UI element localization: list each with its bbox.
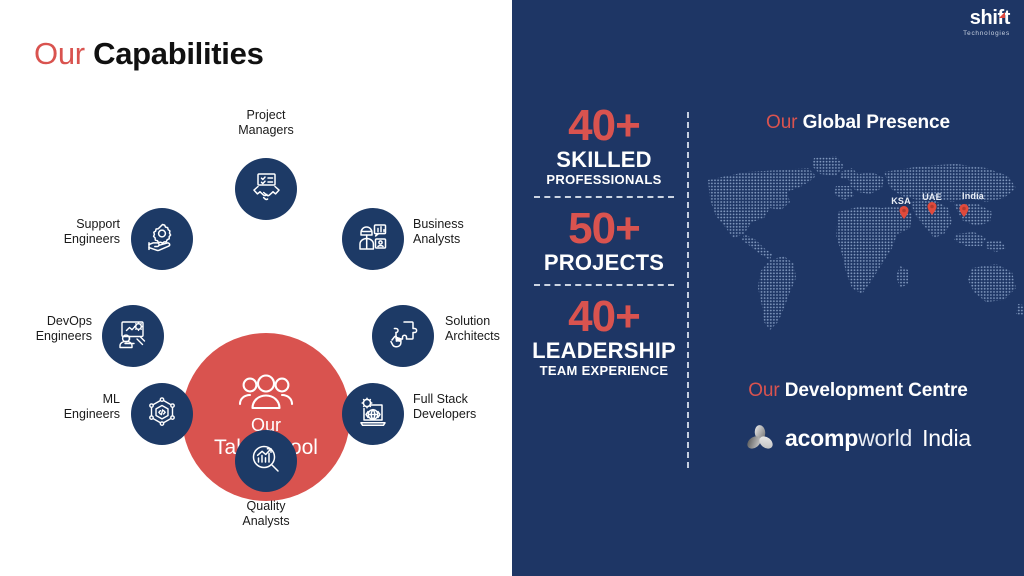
hub-node-label: DevOps Engineers <box>0 314 92 345</box>
hexagon-code-node-icon <box>145 395 179 434</box>
logo-name: shift <box>934 8 1010 28</box>
stat-block-leadership: 40+ LEADERSHIP TEAM EXPERIENCE <box>530 295 678 378</box>
talent-pool-hub-diagram: Our Talent Pool <box>0 90 512 576</box>
hub-node-label: ML Engineers <box>0 392 120 423</box>
global-presence-title-main: Global Presence <box>803 112 950 133</box>
map-pin-india[interactable] <box>960 204 969 217</box>
hub-node-label: Support Engineers <box>0 217 120 248</box>
stat-title: LEADERSHIP <box>530 339 678 363</box>
gear-hand-support-icon <box>145 220 179 259</box>
map-marker-label-india: India <box>962 191 984 201</box>
map-pin-uae[interactable] <box>928 202 937 215</box>
hub-node-label: Quality Analysts <box>186 499 346 530</box>
stat-title: PROJECTS <box>530 251 678 275</box>
hub-node-badge[interactable] <box>131 383 193 445</box>
acompworld-trefoil-icon <box>745 424 775 452</box>
partner-country: India <box>922 425 971 452</box>
shift-technologies-logo: shift Technologies <box>934 8 1010 48</box>
slide-root: Our Capabilities Our Talent Pool <box>0 0 1024 576</box>
stat-block-skilled-professionals: 40+ SKILLED PROFESSIONALS <box>530 104 678 187</box>
hub-node-label: Business Analysts <box>413 217 464 248</box>
puzzle-hand-icon <box>386 317 420 356</box>
hub-node-badge[interactable] <box>372 305 434 367</box>
global-presence-section: Our Global Presence <box>692 100 1024 400</box>
logo-subtitle: Technologies <box>934 30 1010 37</box>
stats-column: 40+ SKILLED PROFESSIONALS 50+ PROJECTS 4… <box>530 104 678 378</box>
laptop-code-globe-icon <box>356 395 390 434</box>
partner-name-bold: acomp <box>785 425 858 451</box>
global-presence-title: Our Global Presence <box>692 112 1024 134</box>
people-group-icon <box>237 374 295 415</box>
stat-divider <box>534 284 674 286</box>
left-panel: Our Capabilities Our Talent Pool <box>0 0 512 576</box>
magnifier-chart-icon <box>249 442 283 481</box>
hub-node-badge[interactable] <box>235 158 297 220</box>
map-marker-label-uae: UAE <box>922 192 942 202</box>
map-pin-ksa[interactable] <box>900 206 909 219</box>
development-centre-title: Our Development Centre <box>692 380 1024 402</box>
stat-block-projects: 50+ PROJECTS <box>530 207 678 275</box>
development-centre-title-accent: Our <box>748 380 779 401</box>
dotted-world-map <box>686 142 1024 352</box>
stat-subtitle: PROFESSIONALS <box>530 172 678 188</box>
partner-name-light: world <box>858 425 912 451</box>
stat-number: 50+ <box>530 207 678 251</box>
hub-node-label: Project Managers <box>186 108 346 139</box>
stat-number: 40+ <box>530 295 678 339</box>
stat-number: 40+ <box>530 104 678 148</box>
hub-node-badge[interactable] <box>342 383 404 445</box>
page-title: Our Capabilities <box>34 36 264 72</box>
hub-node-label: Full Stack Developers <box>413 392 476 423</box>
partner-row: acompworld India <box>692 424 1024 452</box>
partner-name: acompworld <box>785 425 912 452</box>
global-presence-title-accent: Our <box>766 112 797 133</box>
development-centre-title-main: Development Centre <box>785 380 968 401</box>
monitor-gear-person-icon <box>116 317 150 356</box>
page-title-main: Capabilities <box>93 36 263 71</box>
hub-node-label: Solution Architects <box>445 314 500 345</box>
right-panel: shift Technologies 40+ SKILLED PROFESSIO… <box>512 0 1024 576</box>
stat-divider <box>534 196 674 198</box>
hub-node-badge[interactable] <box>131 208 193 270</box>
stat-title: SKILLED <box>530 148 678 172</box>
stat-subtitle: TEAM EXPERIENCE <box>530 363 678 379</box>
handshake-contract-icon <box>249 170 283 209</box>
analyst-person-chart-icon <box>356 220 390 259</box>
hub-node-badge[interactable] <box>102 305 164 367</box>
hub-node-badge[interactable] <box>342 208 404 270</box>
map-marker-label-ksa: KSA <box>891 196 911 206</box>
page-title-accent: Our <box>34 36 85 71</box>
hub-node-badge[interactable] <box>235 430 297 492</box>
development-centre-section: Our Development Centre <box>692 380 1024 452</box>
